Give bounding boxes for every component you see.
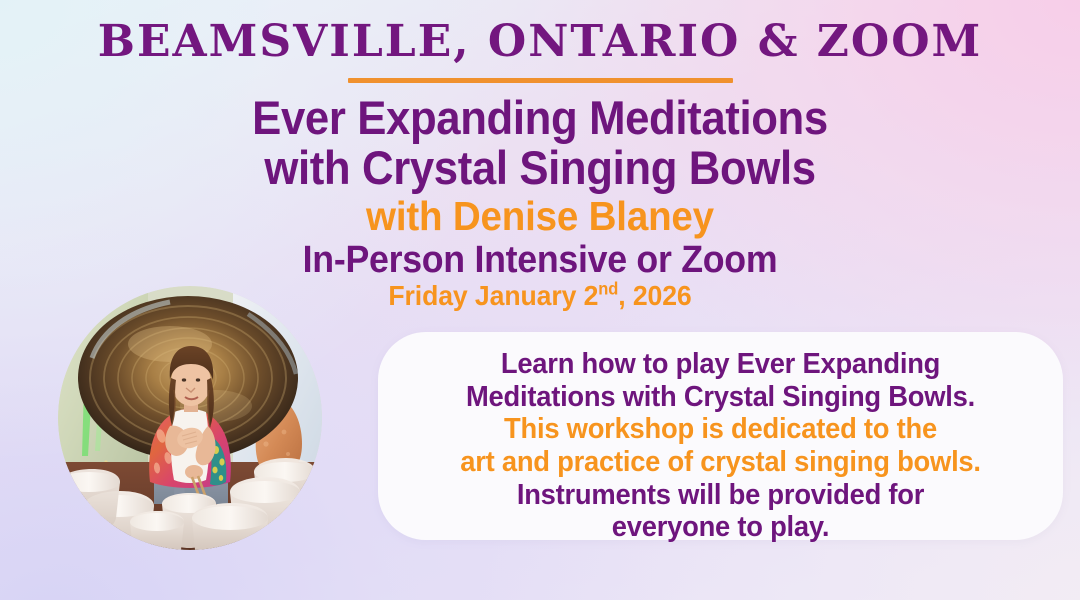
event-poster: BEAMSVILLE, ONTARIO & ZOOM Ever Expandin… [0,0,1080,600]
description-line-4: art and practice of crystal singing bowl… [392,446,1050,479]
description-text: Learn how to play Ever Expanding Meditat… [378,348,1063,544]
title-line-1: Ever Expanding Meditations [38,94,1042,141]
presenter-photo-illustration [58,286,322,550]
photo-mandala [4,232,376,600]
date-suffix: , 2026 [618,280,691,311]
title-line-2: with Crystal Singing Bowls [38,144,1042,191]
description-line-1: Learn how to play Ever Expanding [392,348,1050,381]
header-divider-rule [348,78,733,83]
location-header: BEAMSVILLE, ONTARIO & ZOOM [0,19,1080,66]
description-line-5: Instruments will be provided for [392,479,1050,512]
date-prefix: Friday January 2 [388,280,598,311]
presenter-photo [58,286,322,550]
description-line-2: Meditations with Crystal Singing Bowls. [392,381,1050,414]
presenter-line: with Denise Blaney [32,196,1047,237]
date-ordinal: nd [598,279,618,299]
description-card: Learn how to play Ever Expanding Meditat… [378,332,1063,540]
description-line-3: This workshop is dedicated to the [392,413,1050,446]
description-line-6: everyone to play. [392,511,1050,544]
